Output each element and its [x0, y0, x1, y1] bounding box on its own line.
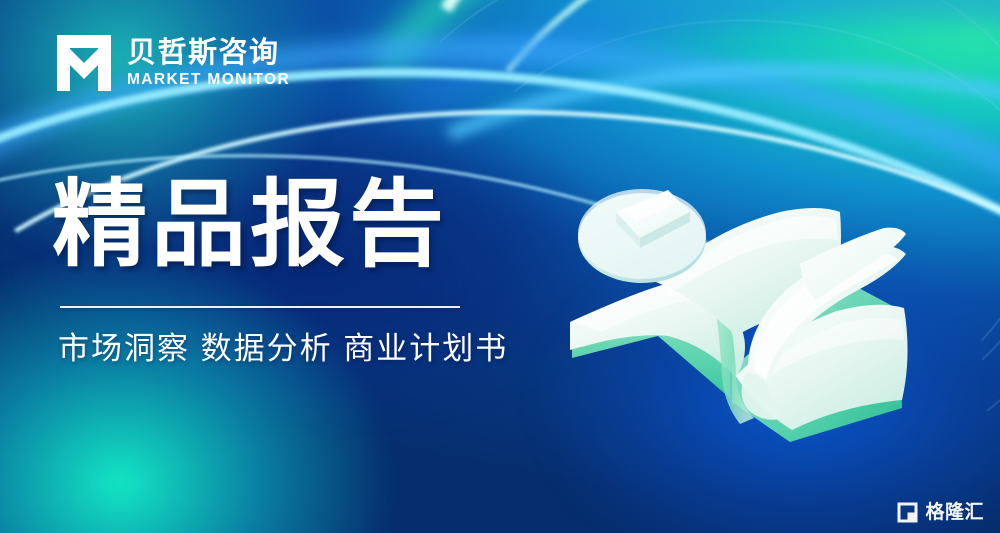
brand-logo: 贝哲斯咨询 MARKET MONITOR — [55, 33, 290, 93]
page-subtitle: 市场洞察 数据分析 商业计划书 — [58, 330, 508, 369]
watermark-text: 格隆汇 — [925, 503, 984, 522]
watermark: 格隆汇 — [897, 502, 984, 523]
brand-name-cn: 贝哲斯咨询 — [127, 38, 290, 68]
promo-banner: 贝哲斯咨询 MARKET MONITOR 精品报告 市场洞察 数据分析 商业计划… — [0, 0, 1000, 533]
gelonghui-g-icon — [897, 502, 918, 523]
market-monitor-logo-icon — [55, 33, 113, 93]
brand-name-en: MARKET MONITOR — [127, 72, 290, 88]
open-book-illustration — [540, 150, 940, 440]
page-title: 精品报告 — [52, 176, 448, 276]
brand-wordmark: 贝哲斯咨询 MARKET MONITOR — [127, 38, 290, 88]
title-divider — [60, 306, 460, 308]
